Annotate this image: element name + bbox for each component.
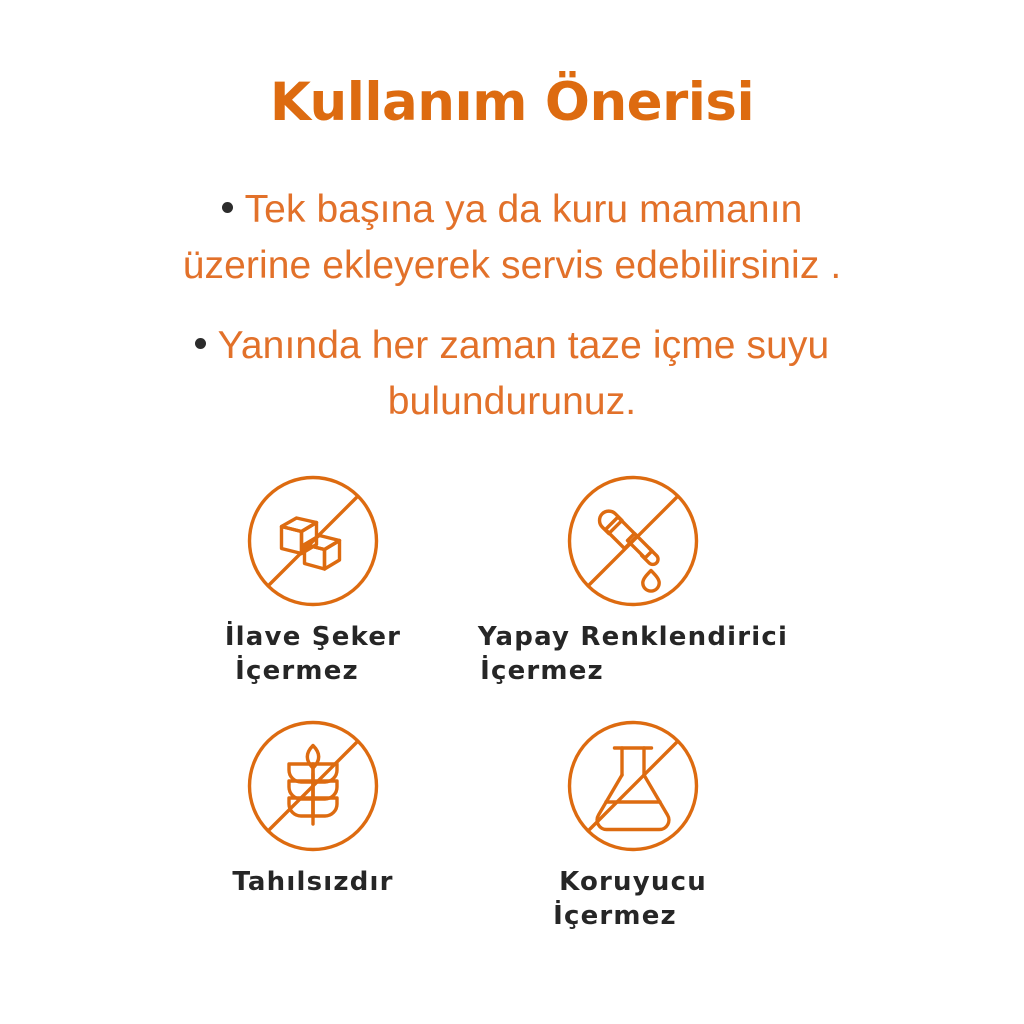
no-added-sugar-icon [148,470,478,612]
usage-bullet-1: Tek başına ya da kuru mamanın üzerine ek… [0,182,1024,294]
no-preservative-flask-icon [468,715,798,857]
usage-bullet-1-line-2: üzerine ekleyerek servis edebilirsiniz . [0,238,1024,294]
badge-label-line-1: Tahılsızdır [232,867,393,897]
no-artificial-color-dropper-icon [468,470,798,612]
usage-bullet-2: Yanında her zaman taze içme suyu bulundu… [0,318,1024,430]
usage-bullet-1-text-1: Tek başına ya da kuru mamanın [245,188,803,231]
usage-bullet-2-line-1: Yanında her zaman taze içme suyu [0,318,1024,374]
no-grain-wheat-icon [148,715,478,857]
badge-label-line-1: Yapay Renklendirici [478,622,788,652]
badge-label: Koruyucu İçermez [468,865,798,933]
feature-badge-grid: İlave Şeker İçermez [0,470,1024,970]
page-title: Kullanım Önerisi [0,76,1024,129]
bullet-dot-icon [195,338,206,349]
poster-canvas: Kullanım Önerisi Tek başına ya da kuru m… [0,0,1024,1024]
badge-label: Yapay Renklendirici İçermez [468,620,798,688]
badge-preservative-free: Koruyucu İçermez [468,715,798,933]
badge-label-line-2: İçermez [432,899,798,933]
badge-label-line-1: Koruyucu [559,867,707,897]
badge-label: Tahılsızdır [148,865,478,899]
badge-label-line-1: İlave Şeker [225,622,401,652]
badge-no-artificial-colour: Yapay Renklendirici İçermez [468,470,798,688]
usage-bullet-2-line-2: bulundurunuz. [0,374,1024,430]
usage-bullet-2-text-1: Yanında her zaman taze içme suyu [218,324,830,367]
badge-label-line-2: İçermez [286,654,798,688]
bullet-dot-icon [222,202,233,213]
usage-bullet-1-line-1: Tek başına ya da kuru mamanın [0,182,1024,238]
badge-grain-free: Tahılsızdır [148,715,478,899]
